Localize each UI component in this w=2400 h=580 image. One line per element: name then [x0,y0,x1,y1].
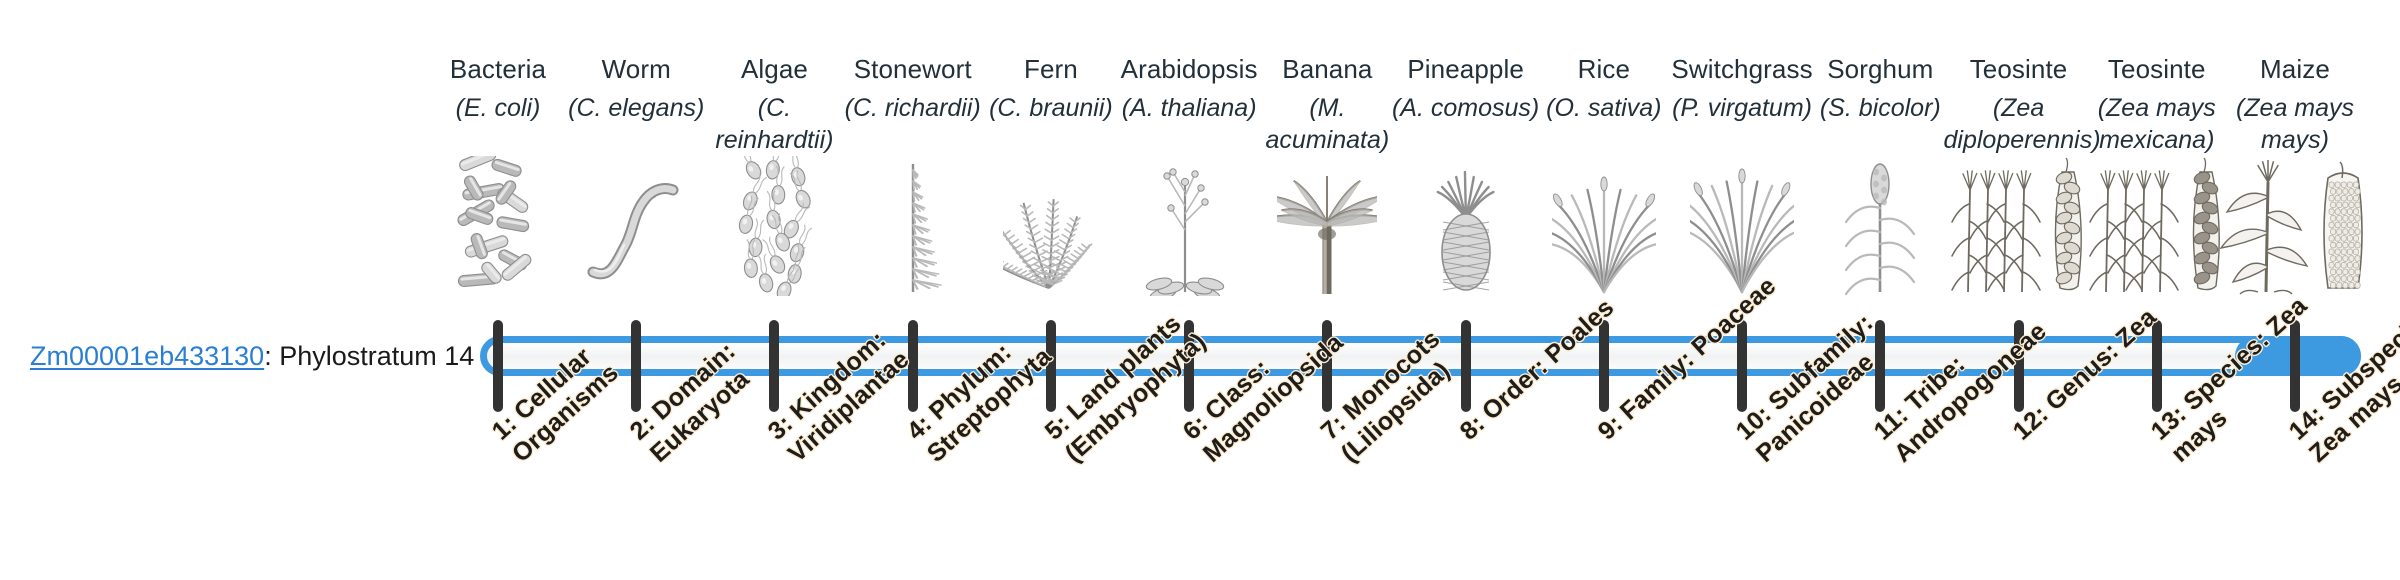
stratum-tick-1 [493,320,503,412]
species-column-algae-3: Algae(C. reinhardtii) [699,52,849,156]
species-column-worm-2: Worm(C. elegans) [561,52,711,124]
species-scientific-name: (C. braunii) [976,92,1126,124]
species-common-name: Bacteria [423,52,573,86]
species-common-name: Stonewort [838,52,988,86]
algae-icon [699,176,849,296]
species-common-name: Arabidopsis [1114,52,1264,86]
stratum-tick-9 [1599,320,1609,412]
phylostratum-figure: Zm00001eb433130: Phylostratum 14 Bacteri… [0,0,2400,580]
species-common-name: Worm [561,52,711,86]
switchgrass-icon [1667,176,1817,296]
teosinte-diploperennis-icon [1944,176,2094,296]
species-common-name: Switchgrass [1667,52,1817,86]
fern-icon [976,176,1126,296]
species-common-name: Rice [1529,52,1679,86]
species-common-name: Sorghum [1805,52,1955,86]
species-common-name: Banana [1252,52,1402,86]
species-column-maize-14: Maize(Zea mays mays) [2220,52,2370,156]
banana-icon [1252,176,1402,296]
gene-phylostratum-value: Phylostratum 14 [279,341,474,371]
species-scientific-name: (C. elegans) [561,92,711,124]
species-scientific-name: (O. sativa) [1529,92,1679,124]
species-scientific-name: (S. bicolor) [1805,92,1955,124]
teosinte-mexicana-icon [2082,176,2232,296]
species-common-name: Fern [976,52,1126,86]
species-column-arabidopsis-6: Arabidopsis(A. thaliana) [1114,52,1264,124]
species-scientific-name: (E. coli) [423,92,573,124]
species-column-bacteria-1: Bacteria(E. coli) [423,52,573,124]
species-column-stonewort-4: Stonewort(C. richardii) [838,52,988,124]
gene-accession-link[interactable]: Zm00001eb433130 [30,341,264,371]
species-column-switchgrass-10: Switchgrass(P. virgatum) [1667,52,1817,124]
rank-number: 8: [1454,410,1490,446]
worm-icon [561,176,711,296]
maize-icon [2220,176,2370,296]
species-common-name: Teosinte [1944,52,2094,86]
species-scientific-name: (C. richardii) [838,92,988,124]
species-column-teosinte-12: Teosinte(Zea diploperennis) [1944,52,2094,156]
species-column-rice-9: Rice(O. sativa) [1529,52,1679,124]
species-column-banana-7: Banana(M. acuminata) [1252,52,1402,156]
species-scientific-name: (A. thaliana) [1114,92,1264,124]
stratum-tick-10 [1737,320,1747,412]
bacteria-icon [423,176,573,296]
pineapple-icon [1391,176,1541,296]
species-common-name: Algae [699,52,849,86]
species-column-teosinte-13: Teosinte(Zea mays mexicana) [2082,52,2232,156]
gene-phylostratum-label: Zm00001eb433130: Phylostratum 14 [30,336,460,376]
species-column-pineapple-8: Pineapple(A. comosus) [1391,52,1541,124]
species-scientific-name: (A. comosus) [1391,92,1541,124]
arabidopsis-icon [1114,176,1264,296]
rice-icon [1529,176,1679,296]
species-scientific-name: (C. reinhardtii) [699,92,849,156]
species-common-name: Teosinte [2082,52,2232,86]
species-scientific-name: (M. acuminata) [1252,92,1402,156]
species-column-sorghum-11: Sorghum(S. bicolor) [1805,52,1955,124]
species-column-fern-5: Fern(C. braunii) [976,52,1126,124]
species-common-name: Maize [2220,52,2370,86]
species-scientific-name: (Zea mays mays) [2220,92,2370,156]
stratum-tick-13 [2152,320,2162,412]
rank-number: 9: [1592,410,1628,446]
species-scientific-name: (Zea diploperennis) [1944,92,2094,156]
gene-label-separator: : [264,341,279,371]
species-common-name: Pineapple [1391,52,1541,86]
rank-name: Subfamily: Panicoideae [1751,309,1880,468]
species-scientific-name: (Zea mays mexicana) [2082,92,2232,156]
stonewort-icon [838,176,988,296]
species-scientific-name: (P. virgatum) [1667,92,1817,124]
sorghum-icon [1805,176,1955,296]
